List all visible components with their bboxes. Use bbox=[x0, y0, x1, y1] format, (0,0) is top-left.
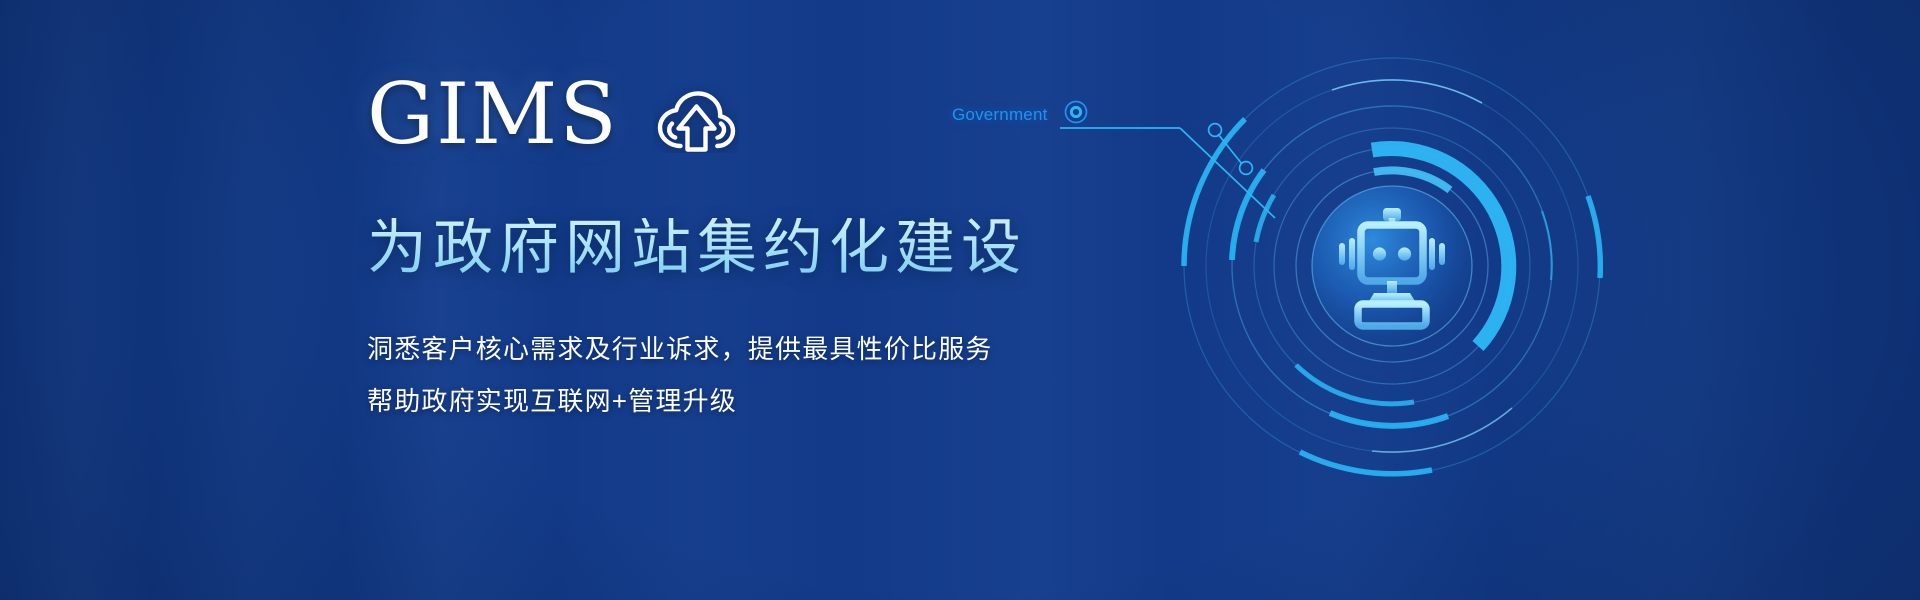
brand-row: GIMS bbox=[367, 62, 1267, 166]
government-label: Government bbox=[952, 105, 1048, 125]
banner-root: GIMS 为政府网站集约化建设 洞悉客 bbox=[0, 0, 1920, 600]
page-title: GIMS bbox=[367, 72, 619, 156]
banner-content: GIMS 为政府网站集约化建设 洞悉客 bbox=[367, 62, 1267, 414]
cloud-upload-icon bbox=[653, 83, 739, 158]
body-line-2: 帮助政府实现互联网+管理升级 bbox=[367, 388, 1267, 414]
body-line-1: 洞悉客户核心需求及行业诉求，提供最具性价比服务 bbox=[367, 336, 1267, 362]
government-node: Government bbox=[952, 98, 1090, 131]
tech-ring-graphic bbox=[1172, 46, 1612, 486]
banner-headline: 为政府网站集约化建设 bbox=[367, 218, 1267, 278]
ring-node-icon bbox=[1062, 98, 1090, 131]
banner-body: 洞悉客户核心需求及行业诉求，提供最具性价比服务 帮助政府实现互联网+管理升级 bbox=[367, 336, 1267, 414]
